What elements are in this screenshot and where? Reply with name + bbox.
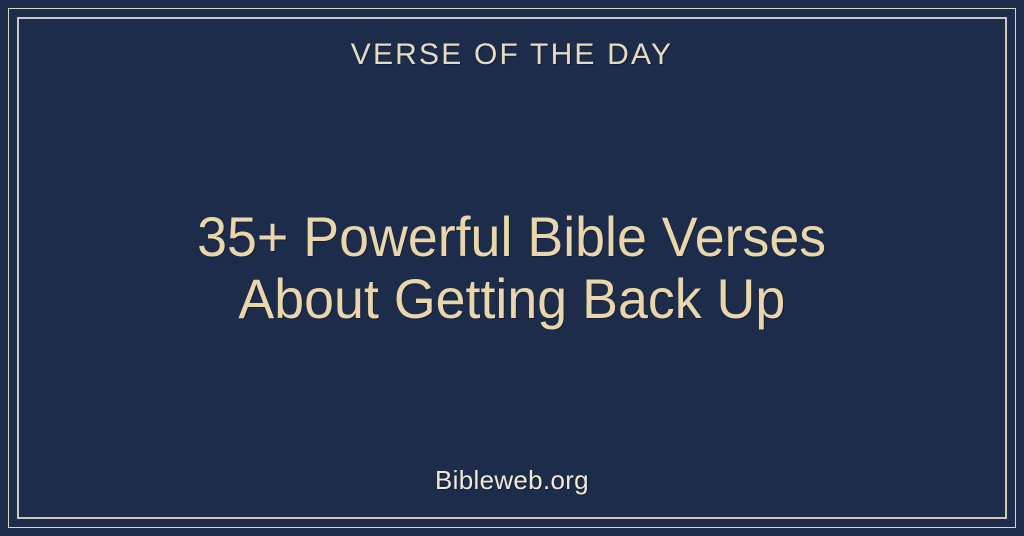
verse-of-the-day-card: VERSE OF THE DAY 35+ Powerful Bible Vers… <box>0 0 1024 536</box>
site-attribution: Bibleweb.org <box>435 466 589 495</box>
page-title-line-1: 35+ Powerful Bible Verses <box>197 206 826 269</box>
card-content: VERSE OF THE DAY 35+ Powerful Bible Vers… <box>19 19 1005 517</box>
eyebrow-label: VERSE OF THE DAY <box>351 39 674 71</box>
title-block: 35+ Powerful Bible Verses About Getting … <box>19 71 1005 467</box>
page-title-line-2: About Getting Back Up <box>239 268 786 331</box>
